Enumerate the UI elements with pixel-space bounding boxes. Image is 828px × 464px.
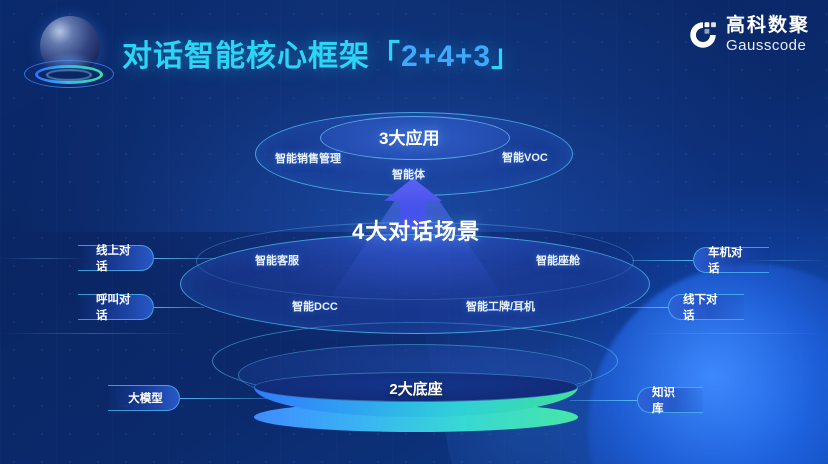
slide-canvas: 对话智能核心框架「2+4+3」 高科数聚 Gausscode — [0, 0, 828, 464]
pill-knowledge-base[interactable]: 知识库 — [637, 387, 703, 413]
application-label-voc: 智能VOC — [502, 149, 548, 165]
application-ring-label: 3大应用 — [379, 124, 439, 149]
connector-car-dialog — [632, 260, 693, 261]
scenario-label-customer-service: 智能客服 — [255, 252, 299, 268]
application-label-agent: 智能体 — [392, 166, 425, 182]
connector-online-dialog — [154, 258, 216, 259]
base-label: 2大底座 — [254, 378, 578, 399]
scenario-ring-label: 4大对话场景 — [352, 214, 480, 246]
guide-line-left-upper — [0, 258, 86, 259]
guide-line-right-lower — [640, 333, 828, 334]
connector-knowledge-base — [570, 400, 637, 401]
guide-line-left-lower — [0, 333, 190, 334]
pill-large-model[interactable]: 大模型 — [108, 385, 180, 411]
pill-call-dialog[interactable]: 呼叫对话 — [78, 294, 154, 320]
connector-call-dialog — [154, 307, 204, 308]
pill-online-dialog[interactable]: 线上对话 — [78, 245, 154, 271]
scenario-label-cockpit: 智能座舱 — [536, 252, 580, 268]
connector-offline-dialog — [620, 307, 668, 308]
pill-car-dialog[interactable]: 车机对话 — [693, 247, 769, 273]
scenario-label-dcc: 智能DCC — [292, 298, 338, 314]
application-label-sales: 智能销售管理 — [275, 150, 341, 166]
scenario-label-badge-headset: 智能工牌/耳机 — [466, 298, 535, 314]
framework-diagram: 3大应用 智能销售管理 智能VOC 智能体 4大对话场景 智能客服 智能座舱 智… — [0, 0, 828, 464]
pill-offline-dialog[interactable]: 线下对话 — [668, 294, 744, 320]
scenario-ellipse — [180, 234, 650, 334]
base-cylinder: 2大底座 — [254, 372, 578, 420]
